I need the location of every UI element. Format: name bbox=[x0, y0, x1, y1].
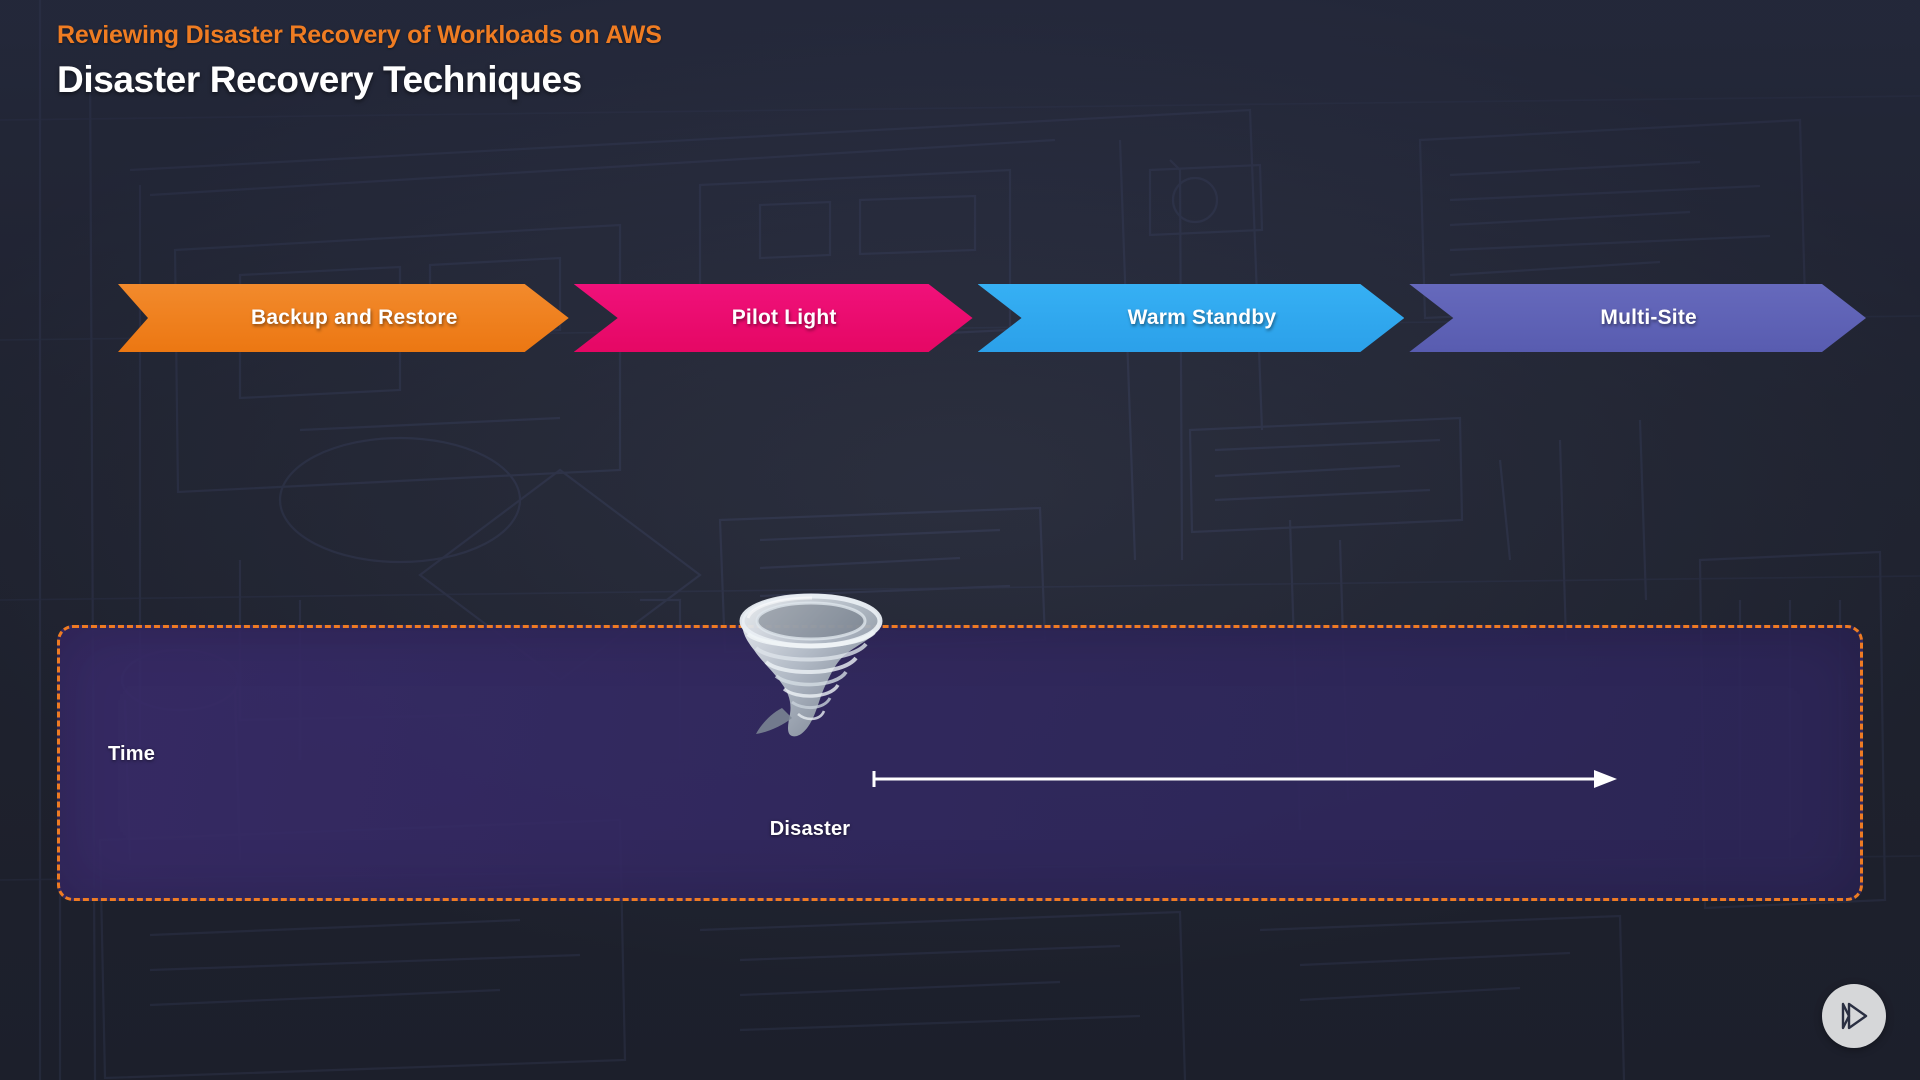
chevron-label: Multi-Site bbox=[1578, 306, 1697, 330]
play-badge-button[interactable] bbox=[1822, 984, 1886, 1048]
right-arrow-icon bbox=[872, 768, 1617, 790]
timeline-panel: Time bbox=[57, 625, 1863, 901]
chevron-warm-standby[interactable]: Warm Standby bbox=[978, 284, 1405, 352]
chevron-pilot-light[interactable]: Pilot Light bbox=[574, 284, 973, 352]
disaster-label: Disaster bbox=[705, 818, 915, 841]
chevron-label: Warm Standby bbox=[1106, 306, 1277, 330]
dr-techniques-chevron-band: Backup and Restore Pilot Light Warm Stan… bbox=[118, 284, 1866, 352]
tornado-icon bbox=[726, 588, 896, 748]
course-kicker: Reviewing Disaster Recovery of Workloads… bbox=[57, 22, 662, 50]
chevron-label: Pilot Light bbox=[710, 306, 837, 330]
slide-header: Reviewing Disaster Recovery of Workloads… bbox=[57, 22, 662, 100]
slide-canvas: Reviewing Disaster Recovery of Workloads… bbox=[0, 0, 1920, 1080]
background-sketch-art bbox=[0, 0, 1920, 1080]
time-axis-label: Time bbox=[108, 743, 155, 766]
chevron-multi-site[interactable]: Multi-Site bbox=[1409, 284, 1866, 352]
chevron-backup-and-restore[interactable]: Backup and Restore bbox=[118, 284, 569, 352]
chevron-label: Backup and Restore bbox=[229, 306, 458, 330]
page-title: Disaster Recovery Techniques bbox=[57, 60, 662, 101]
